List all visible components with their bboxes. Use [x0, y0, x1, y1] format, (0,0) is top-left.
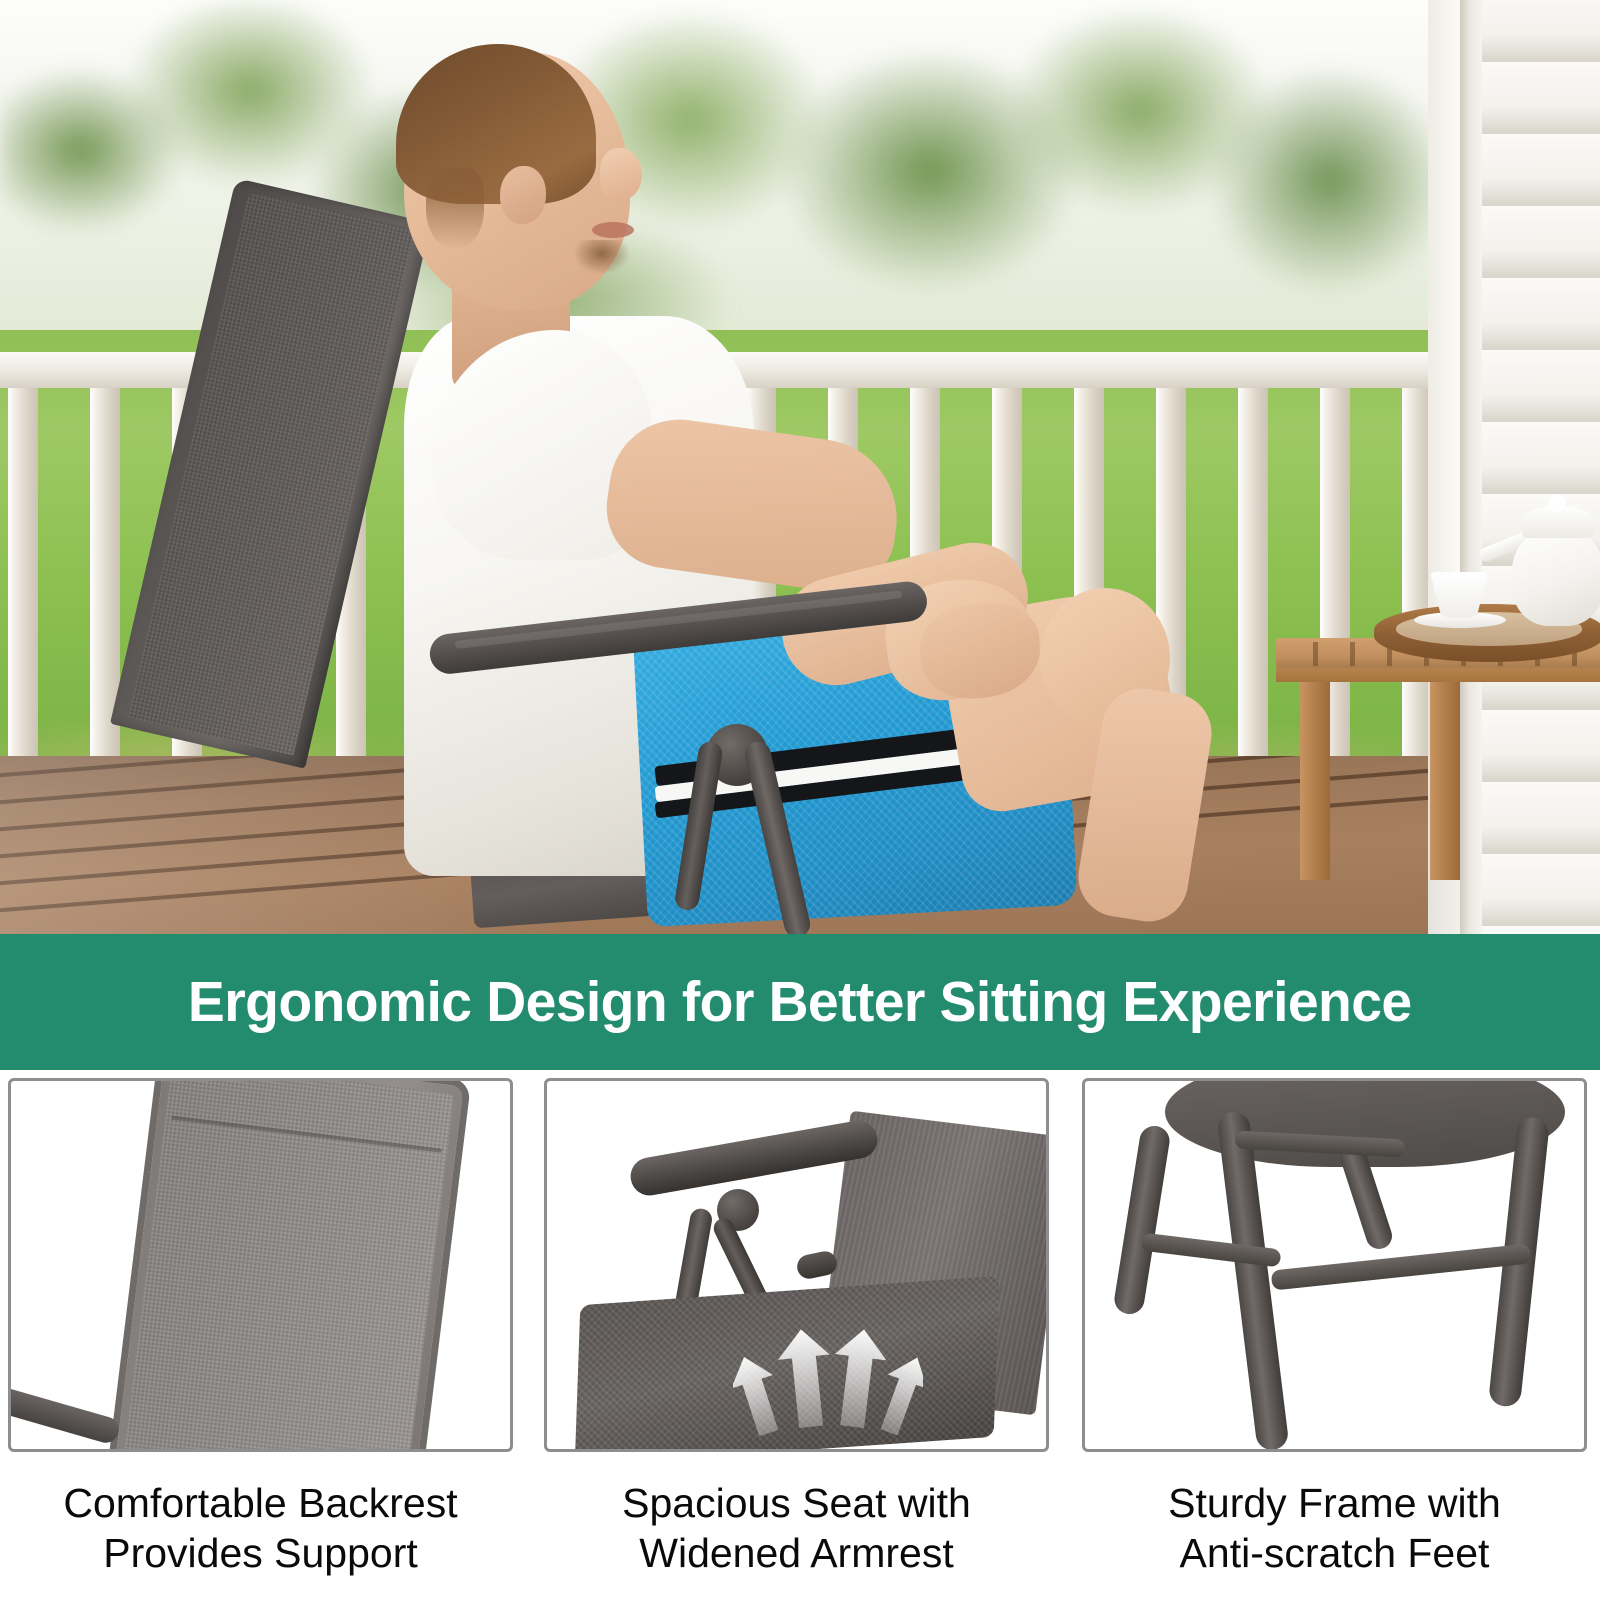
feature-panel-sturdy-frame[interactable] [1082, 1078, 1587, 1452]
caption-comfortable-backrest: Comfortable Backrest Provides Support [8, 1478, 513, 1578]
feature-panel-comfortable-backrest[interactable] [8, 1078, 513, 1452]
headline-banner: Ergonomic Design for Better Sitting Expe… [0, 934, 1600, 1070]
upward-arrows-overlay-icon [733, 1327, 923, 1437]
caption-line-2: Widened Armrest [544, 1528, 1049, 1578]
caption-line-1: Sturdy Frame with [1082, 1478, 1587, 1528]
nose [600, 148, 642, 200]
feature-panels [0, 1078, 1600, 1454]
backrest-mesh-texture [123, 1078, 454, 1452]
page-title: Ergonomic Design for Better Sitting Expe… [188, 969, 1412, 1035]
caption-line-1: Comfortable Backrest [8, 1478, 513, 1528]
backrest-armrest-stub [8, 1382, 122, 1446]
caption-sturdy-frame: Sturdy Frame with Anti-scratch Feet [1082, 1478, 1587, 1578]
feature-panel-spacious-seat[interactable] [544, 1078, 1049, 1452]
ear [500, 166, 546, 224]
seated-person [0, 0, 1600, 936]
goatee [574, 240, 630, 274]
caption-line-2: Anti-scratch Feet [1082, 1528, 1587, 1578]
frame-leg-rear-left [1112, 1124, 1171, 1316]
mouth [592, 222, 634, 238]
feature-captions: Comfortable Backrest Provides Support Sp… [0, 1478, 1600, 1600]
caption-line-1: Spacious Seat with [544, 1478, 1049, 1528]
sideburn [426, 168, 484, 250]
product-feature-page: Ergonomic Design for Better Sitting Expe… [0, 0, 1600, 1600]
caption-spacious-seat: Spacious Seat with Widened Armrest [544, 1478, 1049, 1578]
backrest-closeup-image [115, 1078, 464, 1452]
caption-line-2: Provides Support [8, 1528, 513, 1578]
hero-lifestyle-photo [0, 0, 1600, 936]
frame-crossbar-right [1271, 1243, 1532, 1290]
